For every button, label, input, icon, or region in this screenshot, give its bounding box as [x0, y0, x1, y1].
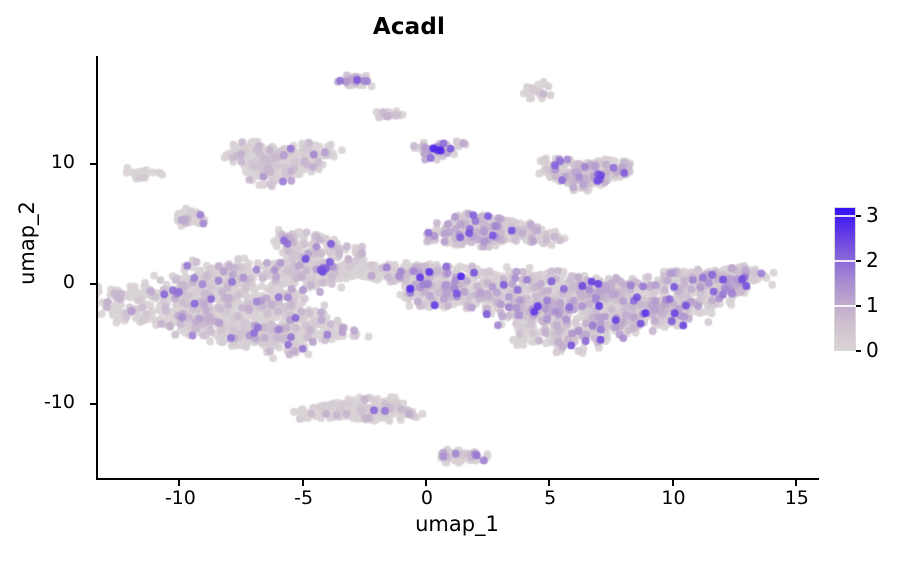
umap-feature-plot-figure: Acadl -10-5051015 100-10 umap_1 umap_2 3… — [0, 0, 911, 562]
y-tick-mark — [90, 283, 96, 285]
x-tick-mark — [672, 480, 674, 486]
y-tick-label: 0 — [0, 271, 84, 293]
y-tick-label: -10 — [0, 391, 84, 413]
colorbar-tick-mark — [856, 305, 861, 307]
colorbar-tick-label: 0 — [866, 338, 879, 362]
colorbar-tick-mark — [856, 350, 861, 352]
x-tick-label: -10 — [150, 487, 210, 509]
colorbar-gradient — [834, 207, 856, 351]
x-tick-mark — [548, 480, 550, 486]
x-tick-label: 0 — [397, 487, 457, 509]
colorbar-tick-label: 2 — [866, 248, 879, 272]
x-tick-mark — [795, 480, 797, 486]
y-tick-mark — [90, 403, 96, 405]
x-tick-label: 15 — [767, 487, 827, 509]
colorbar-tick-mark — [856, 215, 861, 217]
x-tick-label: -5 — [274, 487, 334, 509]
x-tick-mark — [425, 480, 427, 486]
colorbar-tick-mark — [856, 260, 861, 262]
y-tick-label: 10 — [0, 151, 84, 173]
x-axis-label: umap_1 — [96, 512, 818, 536]
x-tick-mark — [302, 480, 304, 486]
y-axis-label: umap_2 — [15, 123, 39, 363]
axis-spine-left — [96, 56, 98, 480]
scatter-plot-canvas[interactable] — [98, 57, 818, 478]
colorbar-tick-label: 1 — [866, 293, 879, 317]
colorbar-tick-mark — [834, 305, 856, 307]
colorbar[interactable]: 3210 — [834, 207, 904, 351]
axis-spine-bottom — [96, 478, 819, 480]
colorbar-tick-mark — [834, 215, 856, 217]
colorbar-tick-label: 3 — [866, 203, 879, 227]
page-title: Acadl — [0, 14, 818, 40]
x-tick-label: 10 — [644, 487, 704, 509]
x-tick-mark — [178, 480, 180, 486]
y-tick-mark — [90, 163, 96, 165]
x-tick-label: 5 — [520, 487, 580, 509]
colorbar-tick-mark — [834, 260, 856, 262]
